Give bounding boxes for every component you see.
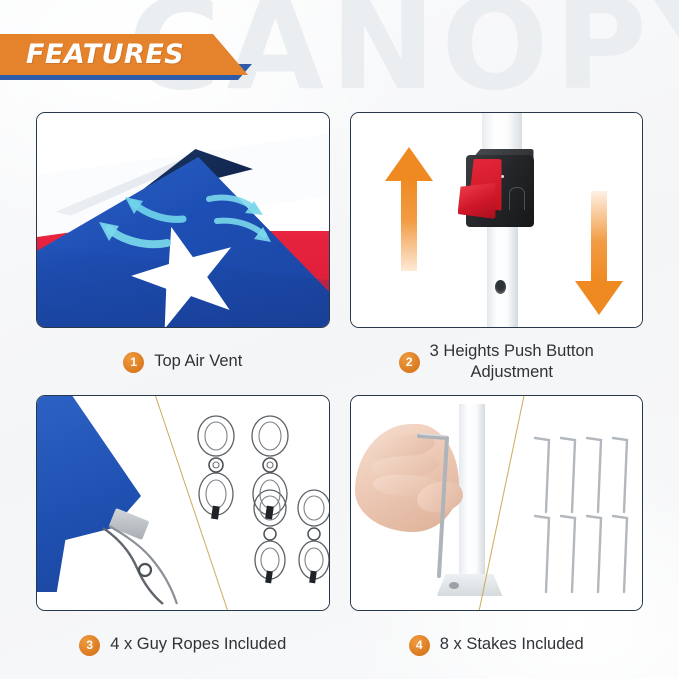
feature-image-panel-1 xyxy=(36,112,330,328)
feature-caption-4: 4 8 x Stakes Included xyxy=(350,611,644,668)
features-banner: FEATURES xyxy=(0,34,300,88)
attached-guy-rope xyxy=(97,524,207,610)
height-up-arrow-icon xyxy=(383,145,435,276)
feature-caption-text-1: Top Air Vent xyxy=(154,351,242,372)
feature-caption-text-3: 4 x Guy Ropes Included xyxy=(110,634,286,655)
feature-cell-1: 1 Top Air Vent xyxy=(36,112,330,385)
feature-cell-4: 4 8 x Stakes Included xyxy=(350,395,644,668)
airflow-arrow-icon-4 xyxy=(213,215,275,249)
stakes-group-icon xyxy=(533,432,644,598)
height-down-arrow-icon xyxy=(573,191,625,322)
feature-caption-2: 2 3 Heights Push Button Adjustment xyxy=(350,328,644,385)
airflow-arrow-icon-2 xyxy=(95,217,171,251)
infographic-page: CANOPY FEATURES xyxy=(0,0,679,679)
rope-coil-3 xyxy=(251,488,289,584)
red-push-button xyxy=(458,183,496,219)
feature-caption-3: 3 4 x Guy Ropes Included xyxy=(36,611,330,668)
features-grid: 1 Top Air Vent xyxy=(0,112,679,668)
feature-image-panel-4 xyxy=(350,395,644,611)
housing-slot-detail xyxy=(509,187,525,210)
leg-adjustment-hole xyxy=(495,280,506,294)
rope-coil-1 xyxy=(195,414,237,520)
feature-cell-3: 3 4 x Guy Ropes Included xyxy=(36,395,330,668)
rope-coil-4 xyxy=(295,488,330,584)
feature-cell-2: 2 3 Heights Push Button Adjustment xyxy=(350,112,644,385)
banner-orange-body: FEATURES xyxy=(0,34,248,75)
page-title: FEATURES xyxy=(0,39,184,70)
feature-number-badge-2: 2 xyxy=(399,352,420,373)
feature-number-badge-1: 1 xyxy=(123,352,144,373)
feature-number-badge-3: 3 xyxy=(79,635,100,656)
feature-caption-1: 1 Top Air Vent xyxy=(36,328,330,385)
feature-caption-text-2: 3 Heights Push Button Adjustment xyxy=(430,341,594,383)
feature-image-panel-3 xyxy=(36,395,330,611)
feature-number-badge-4: 4 xyxy=(409,635,430,656)
feature-caption-text-4: 8 x Stakes Included xyxy=(440,634,584,655)
feature-image-panel-2 xyxy=(350,112,644,328)
